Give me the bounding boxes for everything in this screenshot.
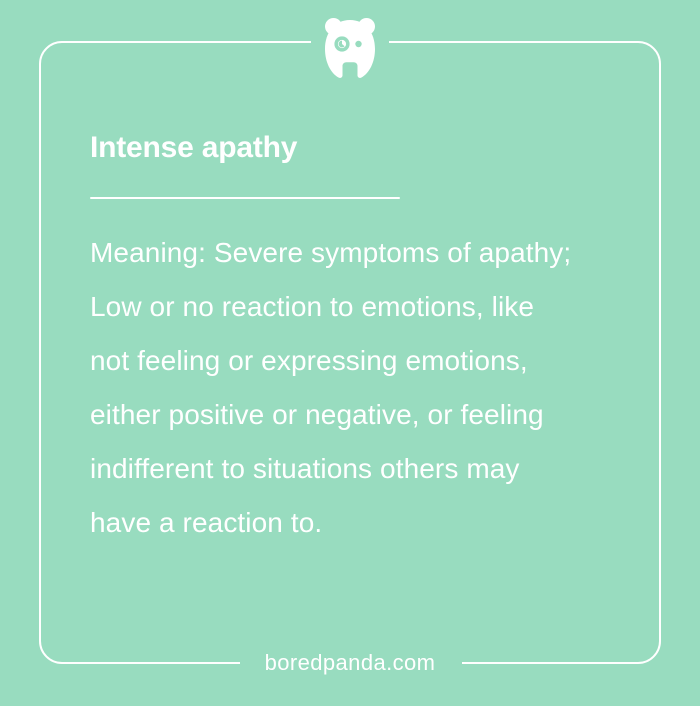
panda-icon xyxy=(323,16,377,82)
site-url[interactable]: boredpanda.com xyxy=(265,645,436,681)
page-title: Intense apathy xyxy=(90,128,610,168)
footer: boredpanda.com xyxy=(0,645,700,681)
quote-card: Intense apathy Meaning: Severe symptoms … xyxy=(0,0,700,706)
title-divider xyxy=(90,197,400,199)
card-content: Intense apathy Meaning: Severe symptoms … xyxy=(90,128,610,550)
definition-text: Meaning: Severe symptoms of apathy; Low … xyxy=(90,226,580,550)
